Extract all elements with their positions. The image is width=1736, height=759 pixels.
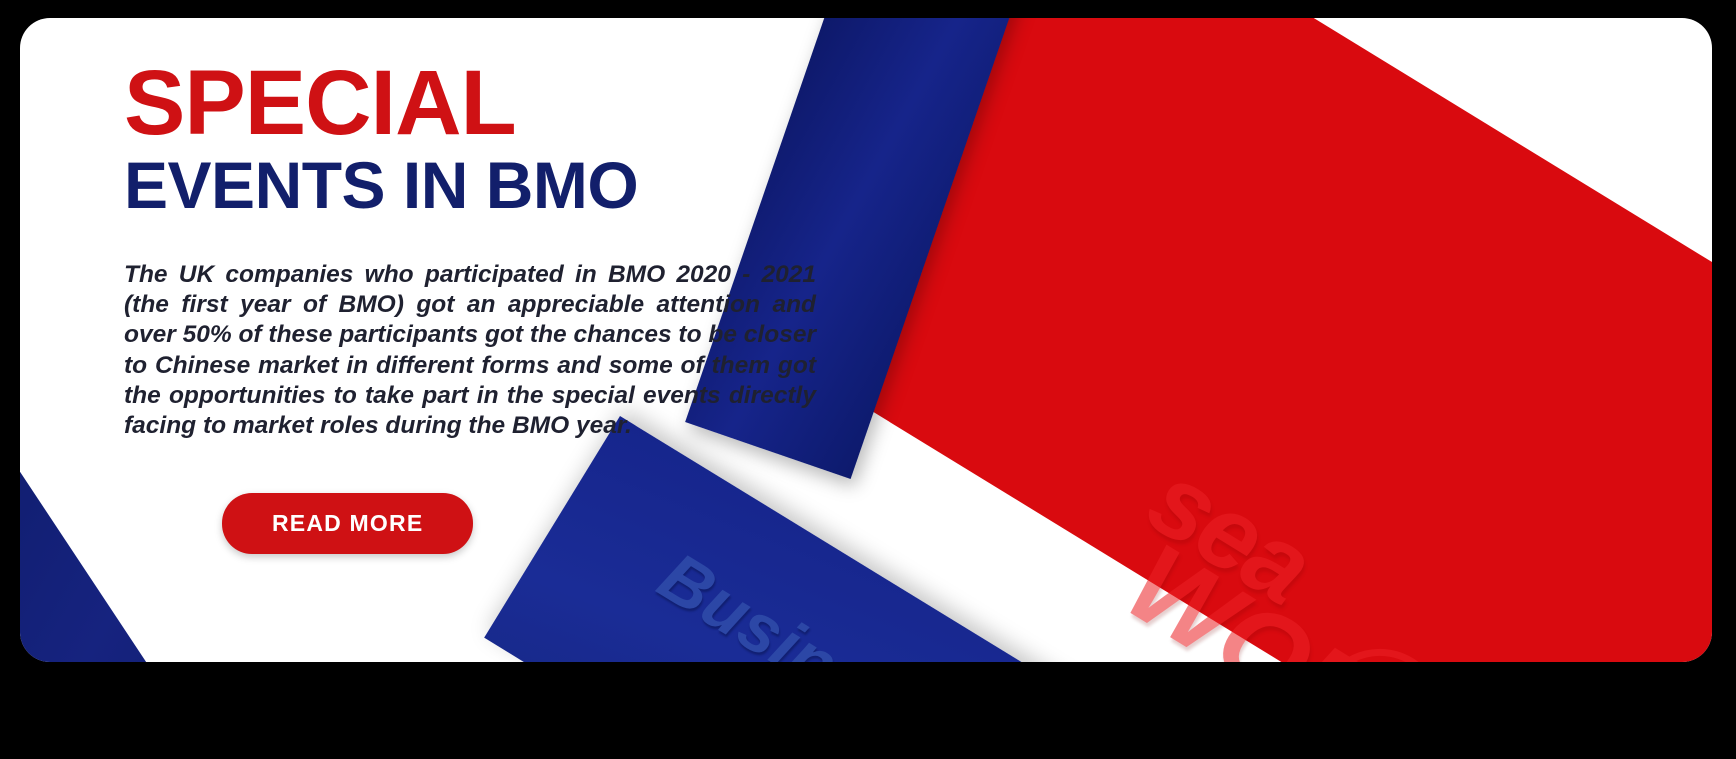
read-more-button[interactable]: READ MORE (222, 493, 473, 554)
promo-card: Business Matchmaking Webinar sea WORK as… (20, 18, 1712, 662)
body-paragraph: The UK companies who participated in BMO… (124, 260, 816, 441)
page-title-secondary: EVENTS IN BMO (124, 152, 844, 218)
card-content: SPECIAL EVENTS IN BMO The UK companies w… (124, 58, 844, 554)
page-title-primary: SPECIAL (124, 58, 844, 148)
